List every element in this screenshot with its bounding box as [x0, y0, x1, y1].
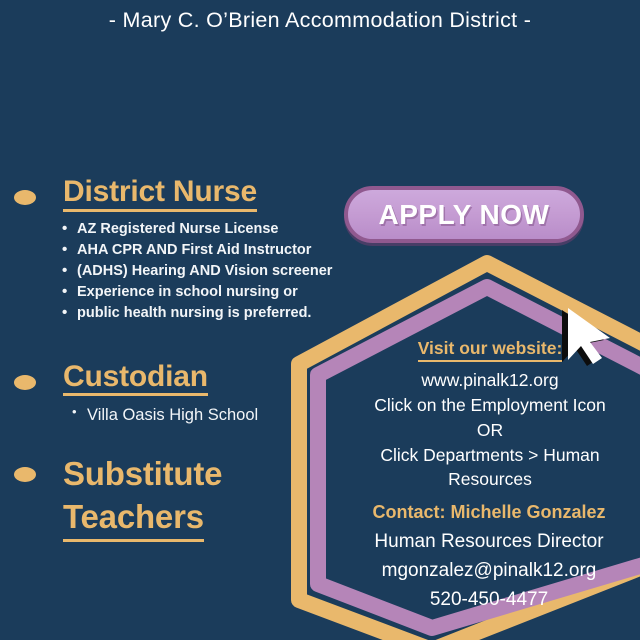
list-item: (ADHS) Hearing AND Vision screener — [0, 261, 380, 282]
instruction-line-2: Click Departments > Human — [340, 443, 640, 468]
job-title-text: Custodian — [63, 361, 208, 397]
list-item: AHA CPR AND First Aid Instructor — [0, 240, 380, 261]
contact-job-title: Human Resources Director — [338, 528, 640, 557]
job-block-district-nurse: District Nurse AZ Registered Nurse Licen… — [0, 176, 380, 325]
list-item: Experience in school nursing or — [0, 282, 380, 303]
job-title-district-nurse: District Nurse — [63, 176, 257, 212]
website-info-panel: Visit our website: www.pinalk12.org Clic… — [340, 338, 640, 492]
job-title-text-line-2: Teachers — [63, 496, 204, 542]
visit-website-heading: Visit our website: — [418, 338, 563, 362]
job-list: District Nurse AZ Registered Nurse Licen… — [0, 176, 380, 542]
list-item: AZ Registered Nurse License — [0, 219, 380, 240]
job-title-custodian: Custodian — [63, 361, 208, 397]
job-title-text: District Nurse — [63, 176, 257, 212]
contact-email[interactable]: mgonzalez@pinalk12.org — [338, 557, 640, 586]
contact-phone[interactable]: 520-450-4477 — [338, 586, 640, 615]
contact-name: Contact: Michelle Gonzalez — [338, 502, 640, 523]
requirement-list-custodian: Villa Oasis High School — [0, 403, 380, 427]
job-block-custodian: Custodian Villa Oasis High School — [0, 361, 380, 428]
bullet-dot-icon — [14, 190, 36, 205]
spacer — [0, 325, 380, 361]
instruction-or: OR — [340, 418, 640, 443]
job-title-substitute-teachers: Substitute Teachers — [63, 453, 222, 541]
spacer — [0, 427, 380, 453]
apply-now-button[interactable]: APPLY NOW — [344, 186, 584, 243]
requirement-list-district-nurse: AZ Registered Nurse License AHA CPR AND … — [0, 219, 380, 325]
list-item: Villa Oasis High School — [0, 403, 380, 427]
list-item: public health nursing is preferred. — [0, 303, 380, 324]
instruction-line-3: Resources — [340, 467, 640, 492]
job-title-text-line-1: Substitute — [63, 453, 222, 495]
website-url[interactable]: www.pinalk12.org — [340, 368, 640, 393]
instruction-line-1: Click on the Employment Icon — [340, 393, 640, 418]
page-title: - Mary C. O’Brien Accommodation District… — [0, 8, 640, 33]
job-posting-poster: - Mary C. O’Brien Accommodation District… — [0, 0, 640, 640]
bullet-dot-icon — [14, 375, 36, 390]
contact-panel: Contact: Michelle Gonzalez Human Resourc… — [338, 502, 640, 615]
bullet-dot-icon — [14, 467, 36, 482]
apply-now-button-label: APPLY NOW — [379, 199, 550, 231]
job-block-substitute-teachers: Substitute Teachers — [0, 453, 380, 541]
